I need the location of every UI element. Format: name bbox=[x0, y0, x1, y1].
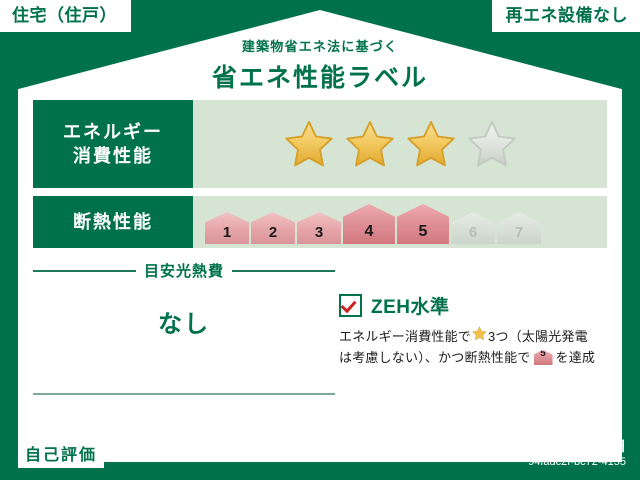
insulation-level-7: 7 bbox=[497, 212, 541, 244]
zeh-desc-line1-part-b: 3つ（太陽光発電 bbox=[488, 326, 588, 347]
insulation-performance-key: 断熱性能 bbox=[33, 196, 193, 248]
zeh-desc-line1-part-a: エネルギー消費性能で bbox=[339, 326, 471, 347]
insulation-level-1: 1 bbox=[205, 212, 249, 244]
energy-performance-key: エネルギー 消費性能 bbox=[33, 100, 193, 188]
star-empty-icon bbox=[466, 119, 518, 169]
insulation-level-4: 4 bbox=[343, 204, 395, 244]
insulation-level-2: 2 bbox=[251, 212, 295, 244]
energy-performance-row: エネルギー 消費性能 bbox=[33, 100, 607, 188]
energy-cost-heading-label: 目安光熱費 bbox=[144, 260, 224, 281]
evaluation-id: 94fadc2f-bc72-4155 bbox=[528, 456, 626, 468]
title-main: 省エネ性能ラベル bbox=[0, 58, 640, 94]
title-subtitle: 建築物省エネ法に基づく bbox=[0, 36, 640, 55]
lower-section: 目安光熱費 なし ZEH水準 エネルギー消費性能で 3つ（太陽光発電 は考慮しな… bbox=[33, 252, 607, 422]
footer: 自己評価 入間市小谷田第29(8棟)8号棟23302100800 評価日 202… bbox=[0, 430, 640, 480]
insulation-level-5: 5 bbox=[397, 204, 449, 244]
inline-star-icon bbox=[472, 326, 487, 347]
insulation-level-scale: 1234567 bbox=[205, 200, 541, 244]
page-title: 建築物省エネ法に基づく 省エネ性能ラベル bbox=[0, 36, 640, 94]
star-rating bbox=[283, 119, 518, 169]
badge-renewable-energy: 再エネ設備なし bbox=[492, 0, 640, 32]
zeh-desc-line2-part-b: を達成 bbox=[556, 347, 596, 368]
energy-performance-value bbox=[193, 100, 607, 188]
star-filled-icon bbox=[283, 119, 335, 169]
insulation-level-6: 6 bbox=[451, 212, 495, 244]
insulation-performance-value: 1234567 bbox=[193, 196, 607, 248]
badge-building-type: 住宅（住戸） bbox=[0, 0, 131, 32]
zeh-description-line-1: エネルギー消費性能で 3つ（太陽光発電 bbox=[339, 326, 607, 347]
zeh-heading: ZEH水準 bbox=[339, 292, 607, 319]
property-address: 入間市小谷田第29(8棟)8号棟23302100800 bbox=[100, 443, 334, 460]
insulation-performance-key-label: 断熱性能 bbox=[73, 210, 153, 234]
energy-performance-label: 住宅（住戸） 再エネ設備なし 建築物省エネ法に基づく 省エネ性能ラベル エネルギ… bbox=[0, 0, 640, 480]
heading-rule-right bbox=[232, 270, 335, 272]
insulation-performance-row: 断熱性能 1234567 bbox=[33, 196, 607, 248]
energy-performance-key-line1: エネルギー bbox=[63, 120, 163, 144]
heading-rule-left bbox=[33, 270, 136, 272]
insulation-level-3: 3 bbox=[297, 212, 341, 244]
star-filled-icon bbox=[344, 119, 396, 169]
zeh-checkbox-checked-icon[interactable] bbox=[339, 294, 362, 317]
zeh-desc-line2-part-a: は考慮しない）、かつ断熱性能で bbox=[339, 347, 531, 368]
evaluation-type-badge: 自己評価 bbox=[18, 438, 104, 468]
zeh-block: ZEH水準 エネルギー消費性能で 3つ（太陽光発電 は考慮しない）、かつ断熱性能… bbox=[339, 292, 607, 368]
energy-cost-value: なし bbox=[33, 304, 335, 339]
inline-insulation-level-badge: 5 bbox=[534, 350, 553, 365]
energy-cost-bottom-rule bbox=[33, 393, 335, 395]
energy-performance-key-line2: 消費性能 bbox=[73, 144, 153, 168]
evaluation-date: 評価日 2025年4月18日 bbox=[484, 436, 626, 456]
zeh-description-line-2: は考慮しない）、かつ断熱性能で 5 を達成 bbox=[339, 347, 607, 368]
energy-cost-heading: 目安光熱費 bbox=[33, 260, 335, 281]
zeh-title: ZEH水準 bbox=[371, 292, 450, 319]
star-filled-icon bbox=[405, 119, 457, 169]
